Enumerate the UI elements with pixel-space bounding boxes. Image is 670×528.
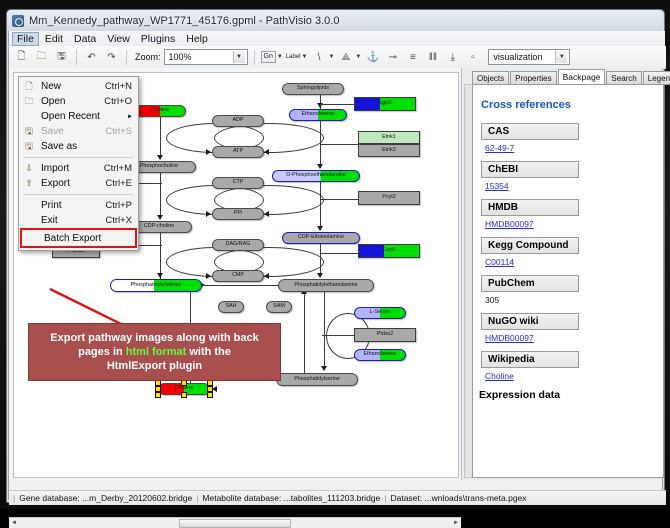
cross-reference-list: CAS62-49-7ChEBI15354HMDBHMDB00097Kegg Co… <box>473 123 663 381</box>
chevron-down-icon[interactable]: ▼ <box>355 54 361 60</box>
node-label: ATP <box>233 149 243 154</box>
window-client-area: File Edit Data View Plugins Help 🗋 🗀 🖫 ↶… <box>8 31 663 500</box>
metabolite-node[interactable]: Phosphatidylserine <box>276 373 358 386</box>
chevron-down-icon[interactable]: ▼ <box>277 54 283 60</box>
window-title: Mm_Kennedy_pathway_WP1771_45176.gpml - P… <box>29 15 339 27</box>
arrowhead-icon <box>206 149 211 155</box>
node-label: Phosphatidylcholines <box>131 283 182 288</box>
node-label: CTP <box>233 180 244 185</box>
toolbar: 🗋 🗀 🖫 ↶ ↷ Zoom: 100% ▼ Gn ▼ Label ▼ \ <box>9 46 666 69</box>
node-label: L-Serine <box>370 310 390 315</box>
chevron-down-icon[interactable]: ▼ <box>233 51 245 63</box>
node-label: Phosphocholine <box>140 164 178 169</box>
file-menu-item-label: Import <box>41 163 69 174</box>
menu-view[interactable]: View <box>102 32 135 46</box>
node-label: Ptdss2 <box>377 332 393 337</box>
cross-references-title: Cross references <box>481 99 663 111</box>
screenshot-root: Mm_Kennedy_pathway_WP1771_45176.gpml - P… <box>0 0 670 509</box>
xref-link[interactable]: Choline <box>485 371 663 381</box>
metabolite-node[interactable]: CMP <box>212 270 264 282</box>
tab-objects[interactable]: Objects <box>472 71 509 85</box>
distribute-icon[interactable]: ▫ <box>464 49 481 66</box>
menu-bar: File Edit Data View Plugins Help <box>9 31 665 47</box>
file-menu-item-shortcut: Ctrl+N <box>105 81 132 92</box>
side-panel: ObjectsPropertiesBackpageSearchLegend Cr… <box>462 68 662 480</box>
export-icon: ⇧ <box>22 178 36 190</box>
new-file-icon[interactable]: 🗋 <box>13 49 30 66</box>
gene-product-node[interactable]: Etnk1 <box>358 131 420 144</box>
xref-link[interactable]: HMDB00097 <box>485 333 663 343</box>
node-label: DAG/RAG <box>226 242 251 247</box>
metabolite-node[interactable]: Ethanolamine <box>289 109 347 121</box>
chevron-right-icon: ► <box>127 114 133 120</box>
file-menu-item-label: Print <box>41 200 62 211</box>
cross-reference-entry: WikipediaCholine <box>481 351 663 381</box>
metabolite-node[interactable]: Phosphatidylethanolamine <box>278 279 374 292</box>
status-metabolite-database: Metabolite database: ...tabolites_111203… <box>202 493 380 503</box>
node-label: Cept1 <box>382 248 396 253</box>
status-gene-database: Gene database: ...m_Derby_20120602.bridg… <box>19 493 192 503</box>
node-label: Ethanolamine <box>302 112 335 117</box>
xref-link[interactable]: HMDB00097 <box>485 219 663 229</box>
cross-reference-entry: ChEBI15354 <box>481 161 663 191</box>
node-label: Etnk2 <box>382 148 396 153</box>
chevron-down-icon[interactable]: ▼ <box>302 54 308 60</box>
line-icon[interactable]: \ <box>310 49 327 66</box>
file-menu-item-new[interactable]: 🗋NewCtrl+N <box>19 79 138 94</box>
menu-edit[interactable]: Edit <box>40 32 68 46</box>
edge <box>202 285 210 286</box>
metabolite-node[interactable]: Sphingolipids <box>282 83 344 95</box>
file-menu-popup[interactable]: 🗋NewCtrl+N🗀OpenCtrl+OOpen Recent►🖫SaveCt… <box>18 76 139 251</box>
arrowhead-icon <box>206 273 211 279</box>
gene-product-tool[interactable]: Gn ▼ <box>261 51 283 63</box>
backpage-content: Cross references CAS62-49-7ChEBI15354HMD… <box>472 84 664 478</box>
metabolite-node[interactable]: ADP <box>212 115 264 127</box>
new-file-icon: 🗋 <box>22 81 36 93</box>
arrowhead-icon <box>321 366 327 371</box>
node-label: CDP-choline <box>144 224 174 229</box>
selection-handle[interactable] <box>155 392 161 398</box>
node-label: Sgpl1 <box>378 101 392 106</box>
edge <box>320 253 360 254</box>
file-menu-item-label: Export <box>41 178 70 189</box>
gene-product-node[interactable]: Sgpl1 <box>354 97 416 111</box>
visualization-value: visualization <box>493 52 542 62</box>
shape-icon[interactable]: ⟁ <box>337 49 354 66</box>
metabolite-node[interactable]: ATP <box>212 146 264 158</box>
stack-icon[interactable]: ⤓ <box>444 49 461 66</box>
node-label: PPi <box>234 211 242 216</box>
tab-legend[interactable]: Legend <box>643 71 670 85</box>
file-menu-item-shortcut: Ctrl+S <box>105 126 132 137</box>
node-label: ADP <box>232 118 243 123</box>
edge <box>324 292 325 370</box>
line-tool[interactable]: \ ▼ <box>310 49 334 66</box>
node-label: Phosphatidylethanolamine <box>294 283 357 288</box>
selection-handle[interactable] <box>207 392 213 398</box>
undo-icon[interactable]: ↶ <box>83 49 100 66</box>
gene-product-node[interactable]: Ptdss2 <box>354 328 416 342</box>
menu-help[interactable]: Help <box>181 32 213 46</box>
status-separator: | <box>196 493 198 503</box>
file-menu-item-label: Save as <box>41 141 77 152</box>
node-label: CDP-Ethanolamine <box>298 235 344 240</box>
node-label: Ethanolamine <box>364 352 397 357</box>
file-menu-item-save: 🖫SaveCtrl+S <box>19 124 138 139</box>
file-menu-item-save-as[interactable]: 🖫Save as <box>19 139 138 154</box>
scroll-left-icon[interactable]: ◄ <box>9 519 19 528</box>
save-icon: 🖫 <box>22 126 36 138</box>
menu-separator <box>24 194 133 195</box>
arrowhead-icon <box>206 211 211 217</box>
side-panel-tabs: ObjectsPropertiesBackpageSearchLegend <box>472 71 662 85</box>
metabolite-node[interactable]: O-Phosphoethanolamine <box>272 170 360 182</box>
edge <box>204 285 278 286</box>
xref-source-label: NuGO wiki <box>481 313 579 330</box>
file-menu-item-label: New <box>41 81 61 92</box>
file-menu-item-batch-export[interactable]: Batch Export <box>20 228 137 248</box>
label-icon[interactable]: Label <box>286 54 301 60</box>
edge <box>324 335 358 336</box>
file-menu-item-shortcut: Ctrl+E <box>105 178 132 189</box>
file-menu-item-open-recent[interactable]: Open Recent► <box>19 109 138 124</box>
metabolite-node[interactable]: Choline <box>134 105 186 117</box>
folder-icon: 🗀 <box>22 96 36 108</box>
callout-line-3: HtmlExport plugin <box>107 359 202 373</box>
callout-highlight: html format <box>126 346 187 358</box>
metabolite-node[interactable]: SAH <box>218 301 244 313</box>
callout-banner: Export pathway images along with back pa… <box>28 323 281 381</box>
toolbar-separator <box>126 50 127 65</box>
xref-source-label: Kegg Compound <box>481 237 579 254</box>
cross-reference-entry: CAS62-49-7 <box>481 123 663 153</box>
arrowhead-icon <box>157 273 163 278</box>
xref-link[interactable]: C00114 <box>485 257 663 267</box>
node-label: SAM <box>273 304 285 309</box>
xref-source-label: CAS <box>481 123 579 140</box>
cross-reference-entry: PubChem305 <box>481 275 663 305</box>
chevron-down-icon[interactable]: ▼ <box>328 54 334 60</box>
callout-line-2: pages in html format with the <box>78 345 231 359</box>
scroll-right-icon[interactable]: ► <box>451 519 461 528</box>
toolbar-separator <box>254 50 255 65</box>
edge <box>320 199 360 200</box>
file-menu-item-shortcut: Ctrl+O <box>104 96 132 107</box>
no-icon <box>22 215 36 227</box>
xref-link[interactable]: 62-49-7 <box>485 143 663 153</box>
node-label: Sphingolipids <box>297 86 329 91</box>
file-menu-item-exit[interactable]: ExitCtrl+X <box>19 213 138 228</box>
chevron-down-icon[interactable]: ▼ <box>555 51 567 63</box>
arrowhead-icon <box>157 155 163 160</box>
cross-reference-entry: HMDBHMDB00097 <box>481 199 663 229</box>
zoom-combo[interactable]: 100% ▼ <box>164 49 248 65</box>
interaction-icon[interactable]: ⊸ <box>384 49 401 66</box>
arrowhead-icon <box>317 226 323 231</box>
file-menu-item-label: Exit <box>41 215 58 226</box>
node-label: Pcyt2 <box>382 195 395 200</box>
file-menu-item-shortcut: Ctrl+X <box>105 215 132 226</box>
arrowhead-icon <box>317 164 323 169</box>
gene-product-node[interactable]: Cept1 <box>358 244 420 258</box>
cross-reference-entry: NuGO wikiHMDB00097 <box>481 313 663 343</box>
node-label: Etnk1 <box>382 135 396 140</box>
metabolite-node[interactable]: PPi <box>212 208 264 220</box>
edge <box>320 104 356 105</box>
file-menu-item-label: Save <box>41 126 64 137</box>
menu-plugins[interactable]: Plugins <box>136 32 180 46</box>
node-label: SAH <box>225 304 236 309</box>
tab-search[interactable]: Search <box>606 71 641 85</box>
open-folder-icon[interactable]: 🗀 <box>33 49 50 66</box>
xref-link[interactable]: 15354 <box>485 181 663 191</box>
edge <box>160 117 161 159</box>
label-tool[interactable]: Label ▼ <box>286 54 308 60</box>
file-menu-item-label: Batch Export <box>44 233 101 244</box>
toolbar-separator <box>76 50 77 65</box>
metabolite-node[interactable]: DAG/RAG <box>212 239 264 251</box>
metabolite-node[interactable]: SAM <box>266 301 292 313</box>
node-label: Choline <box>175 386 193 391</box>
canvas-hscrollbar[interactable]: ◄ ► <box>9 517 461 528</box>
align-columns-icon[interactable]: ‖‖ <box>424 49 441 66</box>
zoom-label: Zoom: <box>135 52 161 62</box>
redo-icon[interactable]: ↷ <box>103 49 120 66</box>
edge <box>320 144 360 145</box>
arrowhead-icon <box>157 215 163 220</box>
align-rows-icon[interactable]: ≡ <box>404 49 421 66</box>
menu-data[interactable]: Data <box>69 32 101 46</box>
xref-source-label: ChEBI <box>481 161 579 178</box>
status-dataset: Dataset: ...wnloads\trans-meta.pgex <box>390 493 526 503</box>
gene-product-node[interactable]: Pcyt2 <box>358 191 420 205</box>
status-separator: | <box>384 493 386 503</box>
no-icon <box>22 111 36 123</box>
file-menu-item-open[interactable]: 🗀OpenCtrl+O <box>19 94 138 109</box>
arrowhead-icon <box>264 149 269 155</box>
file-menu-item-export[interactable]: ⇧ExportCtrl+E <box>19 176 138 191</box>
node-label: Choline <box>151 108 169 113</box>
menu-file[interactable]: File <box>12 32 39 46</box>
metabolite-node[interactable]: CTP <box>212 177 264 189</box>
window-titlebar: Mm_Kennedy_pathway_WP1771_45176.gpml - P… <box>8 12 652 30</box>
tab-properties[interactable]: Properties <box>510 71 556 85</box>
xref-source-label: Wikipedia <box>481 351 579 368</box>
arrowhead-icon <box>317 273 323 278</box>
xref-source-label: HMDB <box>481 199 579 216</box>
edge <box>304 292 305 374</box>
callout-line-2c: with the <box>186 346 231 358</box>
gene-product-icon[interactable]: Gn <box>261 51 276 63</box>
tab-backpage[interactable]: Backpage <box>558 69 606 85</box>
zoom-value: 100% <box>169 52 192 62</box>
file-menu-item-label: Open <box>41 96 65 107</box>
file-menu-item-import[interactable]: ⇩ImportCtrl+M <box>19 161 138 176</box>
xref-value: 305 <box>485 295 663 305</box>
menu-separator <box>24 157 133 158</box>
expression-data-title: Expression data <box>479 389 663 401</box>
edge <box>160 173 161 219</box>
callout-line-1: Export pathway images along with back <box>50 331 258 345</box>
file-menu-item-shortcut: Ctrl+P <box>105 200 132 211</box>
xref-source-label: PubChem <box>481 275 579 292</box>
metabolite-node[interactable]: L-Serine <box>354 307 406 319</box>
callout-line-2a: pages in <box>78 346 126 358</box>
shape-tool[interactable]: ⟁ ▼ <box>337 49 361 66</box>
arrowhead-icon <box>264 273 269 279</box>
metabolite-node[interactable]: CDP-Ethanolamine <box>282 232 360 244</box>
save-icon[interactable]: 🖫 <box>53 49 70 66</box>
arrowhead-icon <box>264 211 269 217</box>
visualization-combo[interactable]: visualization ▼ <box>488 49 570 65</box>
anchor-icon[interactable]: ⚓ <box>364 49 381 66</box>
cross-reference-entry: Kegg CompoundC00114 <box>481 237 663 267</box>
no-icon <box>22 200 36 212</box>
node-label: O-Phosphoethanolamine <box>286 173 346 178</box>
status-separator: | <box>13 493 15 503</box>
node-label: CMP <box>232 273 244 278</box>
no-icon <box>25 232 39 244</box>
node-label: Phosphatidylserine <box>294 377 340 382</box>
pathvisio-icon <box>12 15 24 27</box>
edge <box>320 182 321 230</box>
metabolite-node[interactable]: Ethanolamine <box>354 349 406 361</box>
hscroll-thumb[interactable] <box>179 519 291 528</box>
file-menu-item-label: Open Recent <box>41 111 100 122</box>
file-menu-item-print[interactable]: PrintCtrl+P <box>19 198 138 213</box>
save-as-icon: 🖫 <box>22 141 36 153</box>
status-bar: | Gene database: ...m_Derby_20120602.bri… <box>9 490 666 505</box>
file-menu-item-shortcut: Ctrl+M <box>104 163 132 174</box>
gene-product-node[interactable]: Etnk2 <box>358 144 420 157</box>
selection-handle[interactable] <box>181 392 187 398</box>
import-icon: ⇩ <box>22 163 36 175</box>
